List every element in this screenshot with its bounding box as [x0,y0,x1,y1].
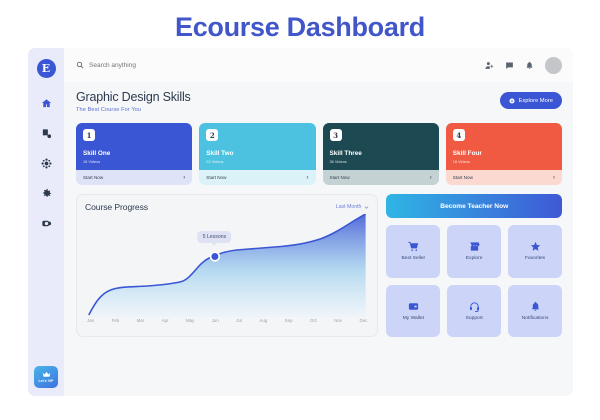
topbar [64,48,573,82]
skill-card-badge: 4 [453,129,465,141]
chart-plot: 5 Lessons [85,214,369,317]
skill-card-title: Skill Three [330,150,432,157]
skill-card[interactable]: 4 Skill Four 18 Videos Start Now › [446,123,562,185]
skill-card-title: Skill One [83,150,185,157]
skill-card-badge: 2 [206,129,218,141]
axis-tick: May [186,318,194,323]
skill-card[interactable]: 2 Skill Two 23 Videos Start Now › [199,123,315,185]
chart-title: Course Progress [85,202,148,212]
axis-tick: Feb [112,318,120,323]
sidebar-nav [39,96,54,231]
skill-card-action: Start Now [330,175,350,180]
axis-tick: Jul [236,318,242,323]
chart-period-label: Last Month [336,204,362,210]
skill-card-footer[interactable]: Start Now › [76,170,192,185]
headset-icon [469,301,480,312]
bell-icon [530,301,541,312]
tile-label: Support [466,316,483,321]
right-panel: Become Teacher Now Best Seller Explore [386,194,562,337]
chart-header: Course Progress Last Month [85,202,369,212]
axis-tick: Sep [285,318,293,323]
axis-tick: Nov [334,318,342,323]
tile-my-wallet[interactable]: My Wallet [386,285,440,338]
page-subheading: The Best Course For You [76,107,191,113]
skill-card-title: Skill Four [453,150,555,157]
chart-period-dropdown[interactable]: Last Month [336,204,370,210]
avatar[interactable] [545,57,562,74]
tile-best-seller[interactable]: Best Seller [386,225,440,278]
tile-label: Favorites [525,256,545,261]
skill-card-videos: 23 Videos [206,159,308,164]
sidebar-item-settings[interactable] [39,186,54,201]
axis-tick: Dec [360,318,368,323]
settings-icon [41,188,52,199]
skill-card[interactable]: 3 Skill Three 36 Videos Start Now › [323,123,439,185]
quick-action-tiles: Best Seller Explore Favorites [386,225,562,337]
sidebar: E Let's VI [28,48,64,396]
search-icon [76,61,84,69]
chart-tooltip: 5 Lessons [198,231,232,243]
explore-more-button[interactable]: Explore More [500,92,562,109]
vip-button[interactable]: Let's VIP [34,366,58,388]
chevron-down-icon [364,205,369,210]
chart-x-axis: Jan Feb Mar Apr May Jun Jul Aug Sep Oct … [85,318,369,323]
skill-card-footer[interactable]: Start Now › [323,170,439,185]
axis-tick: Oct [310,318,317,323]
axis-tick: Jun [212,318,219,323]
tile-support[interactable]: Support [447,285,501,338]
skill-card[interactable]: 1 Skill One 15 Videos Start Now › [76,123,192,185]
search-box[interactable] [76,61,479,69]
skill-card-badge: 1 [83,129,95,141]
app-window: E Let's VI [28,48,573,396]
skill-card-videos: 36 Videos [330,159,432,164]
skill-card-body: 2 Skill Two 23 Videos [199,123,315,170]
skill-card-videos: 18 Videos [453,159,555,164]
chevron-right-icon: › [183,175,185,181]
section-header: Graphic Design Skills The Best Course Fo… [76,90,562,113]
sidebar-item-community[interactable] [39,156,54,171]
search-input[interactable] [89,62,209,69]
courses-icon [41,128,52,139]
skill-card-action: Start Now [453,175,473,180]
vip-label: Let's VIP [38,379,53,383]
axis-tick: Mar [137,318,145,323]
crown-icon [42,371,51,378]
axis-tick: Aug [259,318,267,323]
main-area: Graphic Design Skills The Best Course Fo… [64,48,573,396]
app-logo[interactable]: E [37,59,56,78]
chevron-right-icon: › [307,175,309,181]
tile-label: Notifications [522,316,549,321]
sidebar-item-contrast[interactable] [39,216,54,231]
skill-card-title: Skill Two [206,150,308,157]
header-text: Graphic Design Skills The Best Course Fo… [76,90,191,113]
wallet-icon [408,301,419,312]
message-icon[interactable] [505,61,514,70]
tile-favorites[interactable]: Favorites [508,225,562,278]
chevron-right-icon: › [553,175,555,181]
axis-tick: Jan [87,318,94,323]
skill-card-badge: 3 [330,129,342,141]
topbar-icons [485,57,562,74]
skill-card-body: 4 Skill Four 18 Videos [446,123,562,170]
axis-tick: Apr [162,318,169,323]
logo-text: E [42,62,50,75]
course-progress-card: Course Progress Last Month [76,194,378,337]
skill-card-action: Start Now [83,175,103,180]
lower-section: Course Progress Last Month [76,194,562,337]
chart-marker-layer [85,214,369,317]
become-teacher-button[interactable]: Become Teacher Now [386,194,562,218]
skill-card-body: 3 Skill Three 36 Videos [323,123,439,170]
skill-cards: 1 Skill One 15 Videos Start Now › 2 Skil… [76,123,562,185]
tile-notifications[interactable]: Notifications [508,285,562,338]
skill-card-videos: 15 Videos [83,159,185,164]
content-area: Graphic Design Skills The Best Course Fo… [64,82,573,396]
page-title: Ecourse Dashboard [0,0,600,48]
skill-card-body: 1 Skill One 15 Videos [76,123,192,170]
tile-label: Explore [466,256,483,261]
chevron-right-icon: › [430,175,432,181]
explore-more-label: Explore More [519,98,553,104]
page-heading: Graphic Design Skills [76,90,191,104]
sidebar-item-home[interactable] [39,96,54,111]
star-icon [530,241,541,252]
add-user-icon[interactable] [485,61,494,70]
contrast-icon [41,218,52,229]
tile-explore[interactable]: Explore [447,225,501,278]
tile-label: My Wallet [403,316,424,321]
cart-icon [408,241,419,252]
dashboard-page: Ecourse Dashboard E [0,0,600,420]
skill-card-footer[interactable]: Start Now › [446,170,562,185]
bell-icon[interactable] [525,61,534,70]
home-icon [41,98,52,109]
sidebar-item-courses[interactable] [39,126,54,141]
skill-card-footer[interactable]: Start Now › [199,170,315,185]
shop-icon [469,241,480,252]
skill-card-action: Start Now [206,175,226,180]
community-icon [41,158,52,169]
chart-data-point[interactable] [211,252,220,261]
plus-circle-icon [509,98,515,104]
tile-label: Best Seller [402,256,426,261]
